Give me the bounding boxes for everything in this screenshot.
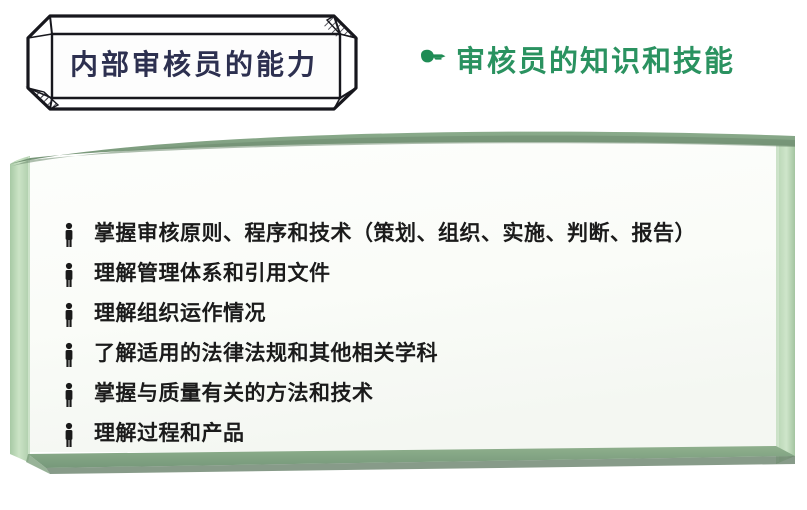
person-figure-icon [58,381,84,409]
list-item: 了解适用的法律法规和其他相关学科 [58,338,761,378]
content-panel: 掌握审核原则、程序和技术（策划、组织、实施、判断、报告） 理解管理体系和引用文件 [6,124,797,480]
list-item: 掌握与质量有关的方法和技术 [58,378,761,418]
person-figure-icon [58,261,84,289]
slide-canvas: 内部审核员的能力 审核员的知识和技能 [0,0,807,510]
list-item: 掌握审核原则、程序和技术（策划、组织、实施、判断、报告） [58,218,761,258]
list-item-text: 理解过程和产品 [94,418,245,448]
person-figure-icon [58,301,84,329]
person-figure-icon [58,221,84,249]
list-item-text: 掌握审核原则、程序和技术（策划、组织、实施、判断、报告） [94,218,696,248]
list-item-text: 了解适用的法律法规和其他相关学科 [94,338,438,368]
bullet-list: 掌握审核原则、程序和技术（策划、组织、实施、判断、报告） 理解管理体系和引用文件 [58,218,761,458]
section-title: 审核员的知识和技能 [418,38,735,80]
list-item: 理解过程和产品 [58,418,761,458]
list-item-text: 理解管理体系和引用文件 [94,258,331,288]
person-figure-icon [58,421,84,449]
panel-body: 掌握审核原则、程序和技术（策划、组织、实施、判断、报告） 理解管理体系和引用文件 [36,158,761,452]
list-item-text: 掌握与质量有关的方法和技术 [94,378,374,408]
person-figure-icon [58,341,84,369]
pointing-hand-icon [418,46,448,72]
list-item-text: 理解组织运作情况 [94,298,266,328]
heading-box: 内部审核员的能力 [22,10,362,115]
heading-box-label: 内部审核员的能力 [22,10,362,115]
list-item: 理解组织运作情况 [58,298,761,338]
list-item: 理解管理体系和引用文件 [58,258,761,298]
section-title-text: 审核员的知识和技能 [456,38,735,80]
